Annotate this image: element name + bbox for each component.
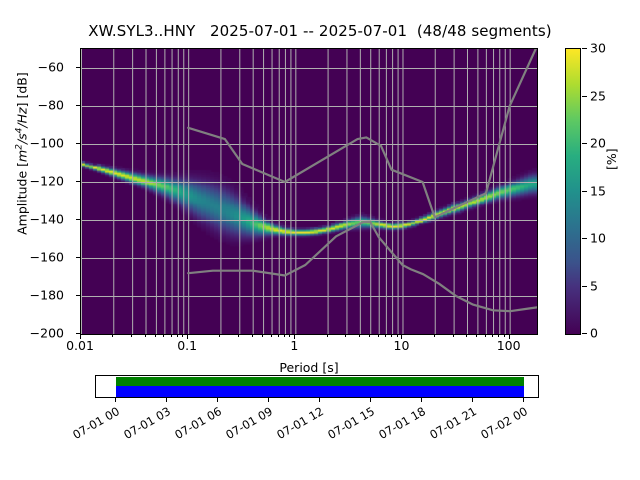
colorbar-tick-mark xyxy=(582,286,587,287)
x-axis-tick-label: 0.1 xyxy=(157,338,217,353)
colorbar-tick-mark xyxy=(582,333,587,334)
y-axis-tick-mark xyxy=(76,219,80,220)
colorbar-tick-label: 5 xyxy=(590,278,598,293)
page-title: XW.SYL3..HNY 2025-07-01 -- 2025-07-01 (4… xyxy=(0,22,640,40)
x-axis-minor-tick xyxy=(378,335,379,337)
x-axis-minor-tick xyxy=(289,335,290,337)
x-axis-minor-tick xyxy=(504,335,505,337)
colorbar-tick-label: 30 xyxy=(590,41,606,56)
timeline-tick-mark xyxy=(421,398,422,402)
x-axis-minor-tick xyxy=(238,335,239,337)
y-axis-tick-mark xyxy=(76,105,80,106)
x-axis-minor-tick xyxy=(327,335,328,337)
x-axis-tick-label: 10 xyxy=(371,338,431,353)
y-axis-tick-mark xyxy=(76,67,80,68)
x-axis-tick-mark xyxy=(509,335,510,339)
colorbar-tick-mark xyxy=(582,191,587,192)
x-axis-minor-tick xyxy=(271,335,272,337)
y-axis-tick-label: −80 xyxy=(0,98,70,113)
timeline-tick-mark xyxy=(370,398,371,402)
colorbar-tick-mark xyxy=(582,48,587,49)
coverage-timeline[interactable] xyxy=(95,375,539,398)
timeline-tick-mark xyxy=(115,398,116,402)
y-axis-tick-label: −160 xyxy=(0,250,70,265)
colorbar-tick-mark xyxy=(582,96,587,97)
x-axis-minor-tick xyxy=(145,335,146,337)
timeline-tick-label: 07-01 09 xyxy=(220,404,275,444)
x-axis-tick-mark xyxy=(80,335,81,339)
timeline-tick-mark xyxy=(319,398,320,402)
x-axis-minor-tick xyxy=(385,335,386,337)
coverage-bar-data xyxy=(116,386,524,397)
x-axis-minor-tick xyxy=(284,335,285,337)
y-axis-tick-label: −180 xyxy=(0,288,70,303)
x-axis-minor-tick xyxy=(219,335,220,337)
x-axis-tick-label: 100 xyxy=(479,338,539,353)
x-axis-minor-tick xyxy=(182,335,183,337)
y-axis-tick-label: −60 xyxy=(0,60,70,75)
x-axis-minor-tick xyxy=(498,335,499,337)
timeline-tick-label: 07-01 00 xyxy=(67,404,122,444)
colorbar-tick-label: 10 xyxy=(590,231,606,246)
colorbar-tick-label: 0 xyxy=(590,326,598,341)
x-axis-minor-tick xyxy=(397,335,398,337)
x-axis-minor-tick xyxy=(391,335,392,337)
colorbar-tick-mark xyxy=(582,143,587,144)
y-axis-tick-label: −120 xyxy=(0,174,70,189)
x-axis-minor-tick xyxy=(492,335,493,337)
timeline-tick-label: 07-01 03 xyxy=(118,404,173,444)
x-axis-tick-mark xyxy=(187,335,188,339)
colorbar xyxy=(565,48,581,335)
x-axis-minor-tick xyxy=(485,335,486,337)
y-axis-tick-mark xyxy=(76,143,80,144)
coverage-bar-used xyxy=(116,377,524,386)
x-axis-tick-label: 1 xyxy=(264,338,324,353)
x-axis-label: Period [s] xyxy=(80,360,538,375)
x-axis-minor-tick xyxy=(252,335,253,337)
ppsd-axes xyxy=(80,48,538,335)
timeline-tick-mark xyxy=(268,398,269,402)
y-axis-tick-mark xyxy=(76,295,80,296)
x-axis-minor-tick xyxy=(476,335,477,337)
x-axis-minor-tick xyxy=(453,335,454,337)
x-axis-tick-mark xyxy=(401,335,402,339)
x-axis-minor-tick xyxy=(359,335,360,337)
y-axis-tick-mark xyxy=(76,333,80,334)
x-axis-minor-tick xyxy=(112,335,113,337)
x-axis-minor-tick xyxy=(163,335,164,337)
x-axis-minor-tick xyxy=(278,335,279,337)
timeline-tick-mark xyxy=(166,398,167,402)
x-axis-minor-tick xyxy=(171,335,172,337)
timeline-tick-label: 07-02 00 xyxy=(475,404,530,444)
colorbar-tick-mark xyxy=(582,238,587,239)
timeline-tick-mark xyxy=(472,398,473,402)
x-axis-minor-tick xyxy=(466,335,467,337)
y-axis-tick-mark xyxy=(76,257,80,258)
colorbar-unit-label: [%] xyxy=(604,148,619,170)
x-axis-minor-tick xyxy=(155,335,156,337)
x-axis-tick-label: 0.01 xyxy=(50,338,110,353)
y-axis-tick-mark xyxy=(76,181,80,182)
x-axis-minor-tick xyxy=(177,335,178,337)
x-axis-minor-tick xyxy=(434,335,435,337)
timeline-tick-label: 07-01 06 xyxy=(169,404,224,444)
x-axis-minor-tick xyxy=(131,335,132,337)
y-axis-tick-label: −140 xyxy=(0,212,70,227)
timeline-tick-mark xyxy=(217,398,218,402)
timeline-tick-label: 07-01 15 xyxy=(322,404,377,444)
colorbar-tick-label: 15 xyxy=(590,183,606,198)
peterson-noise-models xyxy=(81,49,537,334)
x-axis-minor-tick xyxy=(369,335,370,337)
timeline-tick-label: 07-01 12 xyxy=(271,404,326,444)
x-axis-minor-tick xyxy=(262,335,263,337)
y-axis-tick-label: −100 xyxy=(0,136,70,151)
colorbar-tick-label: 25 xyxy=(590,88,606,103)
x-axis-minor-tick xyxy=(345,335,346,337)
timeline-tick-label: 07-01 21 xyxy=(424,404,479,444)
timeline-tick-mark xyxy=(523,398,524,402)
ppsd-figure: XW.SYL3..HNY 2025-07-01 -- 2025-07-01 (4… xyxy=(0,0,640,480)
x-axis-tick-mark xyxy=(294,335,295,339)
timeline-tick-label: 07-01 18 xyxy=(373,404,428,444)
